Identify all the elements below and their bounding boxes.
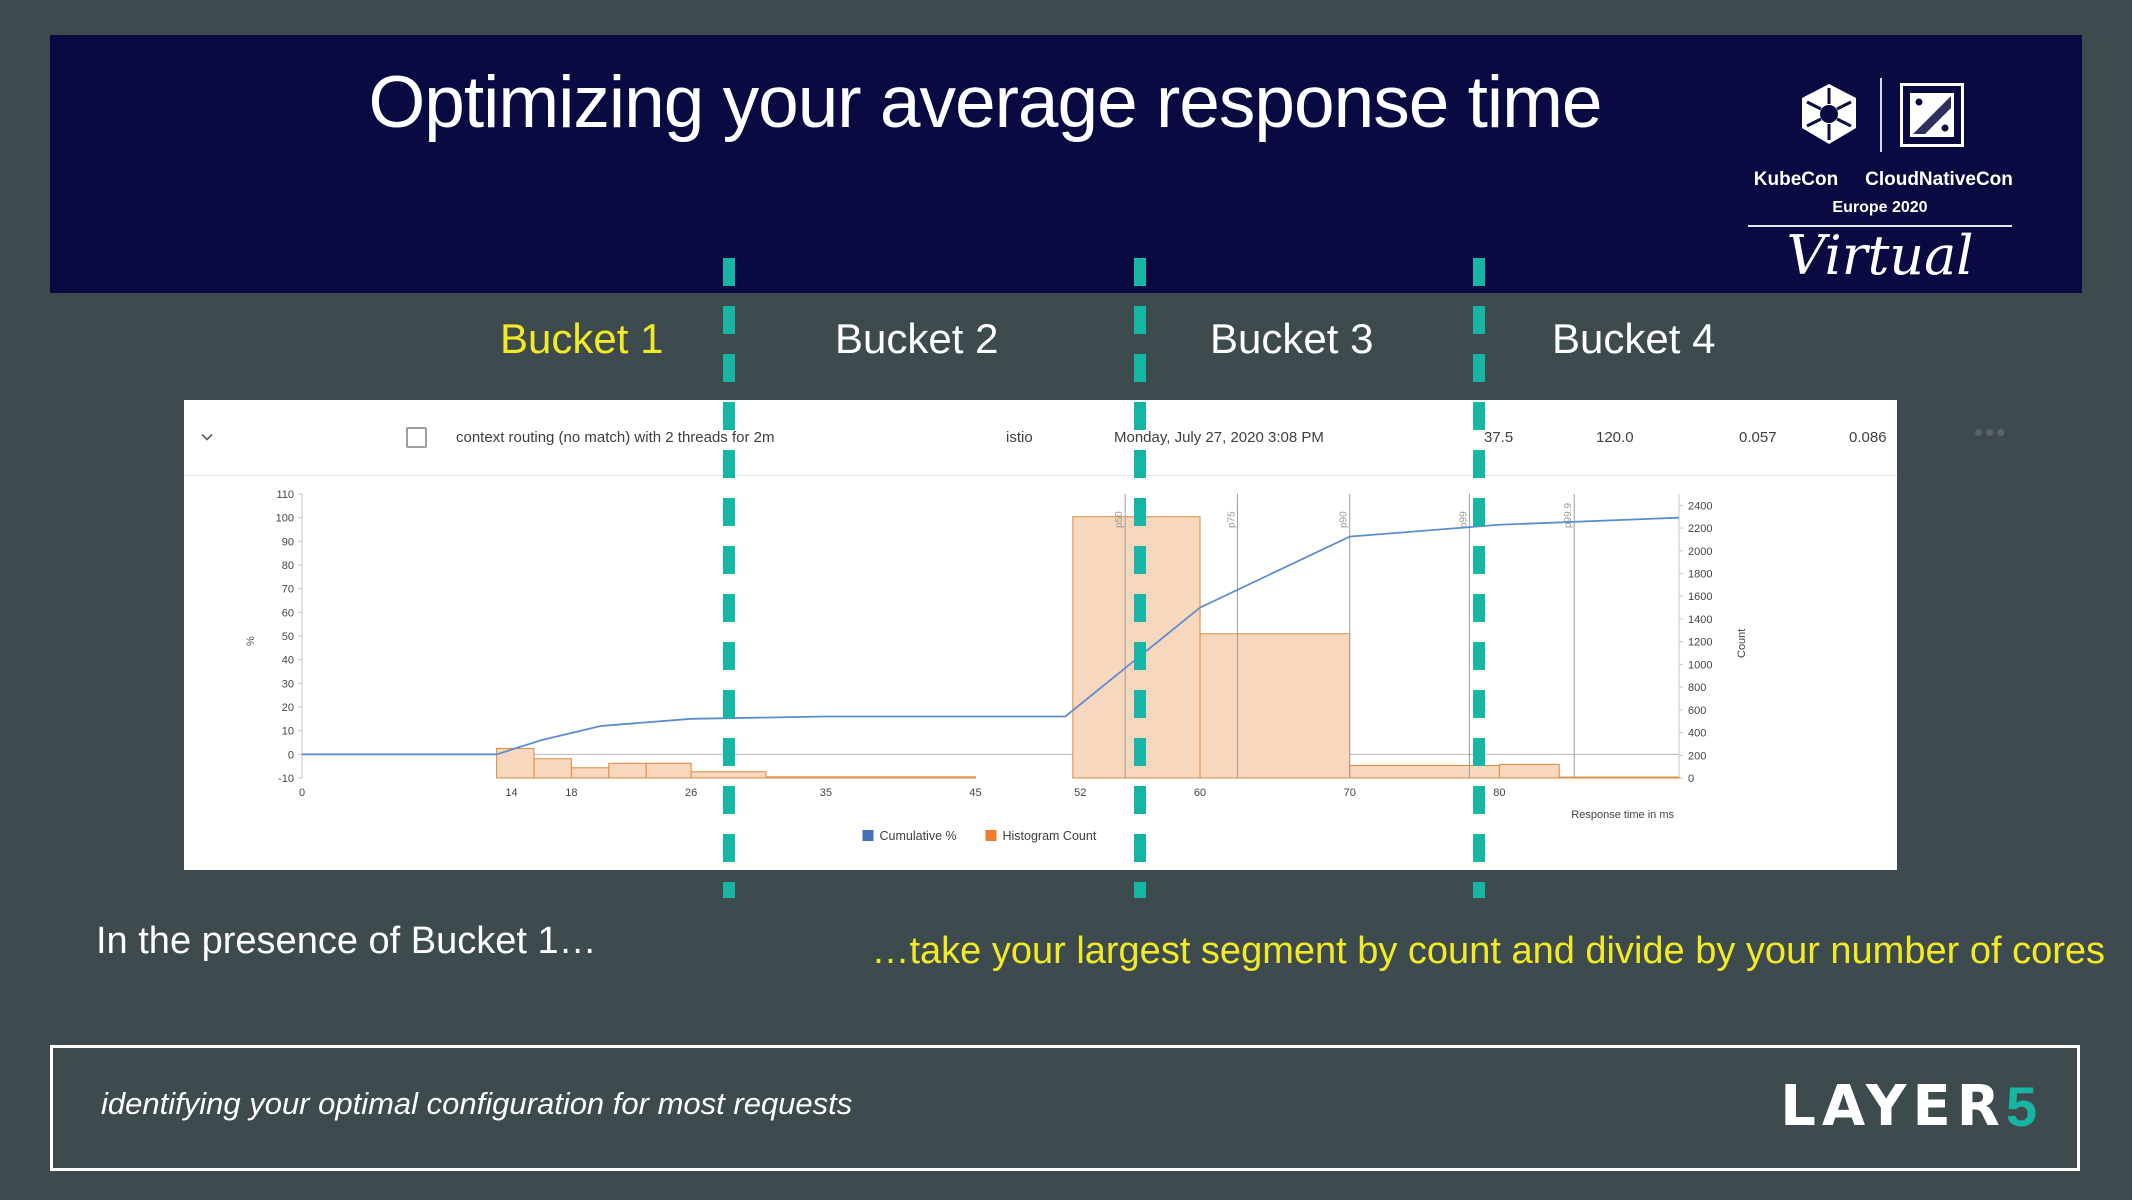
svg-text:18: 18 <box>565 787 577 799</box>
svg-text:Histogram Count: Histogram Count <box>1003 829 1097 843</box>
svg-text:400: 400 <box>1688 728 1706 740</box>
chart-canvas: 1101009080706050403020100-10240022002000… <box>184 476 1897 870</box>
bucket-label-2: Bucket 2 <box>835 315 998 363</box>
svg-text:1400: 1400 <box>1688 614 1712 626</box>
svg-text:35: 35 <box>820 787 832 799</box>
logo-name-cloudnativecon: CloudNativeCon <box>1855 169 2023 191</box>
svg-text:90: 90 <box>282 536 294 548</box>
histogram-chart: 1101009080706050403020100-10240022002000… <box>184 476 1897 870</box>
svg-text:80: 80 <box>282 560 294 572</box>
svg-text:60: 60 <box>282 607 294 619</box>
metric-col-2: 120.0 <box>1596 429 1634 446</box>
row-checkbox[interactable] <box>406 427 427 448</box>
svg-text:14: 14 <box>505 787 517 799</box>
svg-text:1200: 1200 <box>1688 637 1712 649</box>
svg-text:Response time in ms: Response time in ms <box>1571 809 1674 821</box>
bucket-divider-2 <box>1134 258 1146 898</box>
svg-text:100: 100 <box>276 513 294 525</box>
svg-text:30: 30 <box>282 678 294 690</box>
bucket-label-4: Bucket 4 <box>1552 315 1715 363</box>
svg-text:%: % <box>245 636 257 646</box>
layer5-logo: LAYER 5 <box>1780 1076 2037 1136</box>
svg-text:1800: 1800 <box>1688 569 1712 581</box>
fortio-result-panel: context routing (no match) with 2 thread… <box>184 400 1897 870</box>
svg-text:p75: p75 <box>1226 511 1237 528</box>
logo-name-kubecon: KubeCon <box>1737 169 1855 191</box>
helm-wheel-icon <box>1796 82 1862 148</box>
svg-text:2000: 2000 <box>1688 546 1712 558</box>
svg-text:20: 20 <box>282 702 294 714</box>
metric-col-4: 0.086 <box>1849 429 1887 446</box>
caption-left: In the presence of Bucket 1… <box>96 920 597 963</box>
caption-right: …take your largest segment by count and … <box>805 920 2105 982</box>
svg-text:26: 26 <box>685 787 697 799</box>
svg-text:-10: -10 <box>278 773 294 785</box>
title-bar: Optimizing your average response time <box>50 35 2082 293</box>
svg-text:1000: 1000 <box>1688 659 1712 671</box>
svg-text:110: 110 <box>276 489 294 501</box>
svg-text:Cumulative %: Cumulative % <box>880 829 957 843</box>
svg-text:10: 10 <box>282 726 294 738</box>
svg-text:Count: Count <box>1736 629 1748 658</box>
svg-text:70: 70 <box>1344 787 1356 799</box>
svg-text:600: 600 <box>1688 705 1706 717</box>
brand-name: LAYER <box>1780 1074 2006 1139</box>
svg-text:0: 0 <box>1688 773 1694 785</box>
svg-text:1600: 1600 <box>1688 591 1712 603</box>
svg-text:p90: p90 <box>1339 511 1350 528</box>
svg-text:80: 80 <box>1493 787 1505 799</box>
service-mesh: istio <box>1006 429 1033 446</box>
cloud-native-square-icon <box>1900 83 1964 147</box>
svg-text:0: 0 <box>299 787 305 799</box>
svg-text:p99.9: p99.9 <box>1563 503 1574 528</box>
svg-text:45: 45 <box>969 787 981 799</box>
svg-text:800: 800 <box>1688 682 1706 694</box>
logo-edition: Europe 2020 <box>1730 199 2030 217</box>
logo-divider <box>1880 78 1882 152</box>
svg-text:2400: 2400 <box>1688 500 1712 512</box>
metric-col-1: 37.5 <box>1484 429 1513 446</box>
footer-bar: identifying your optimal configuration f… <box>50 1045 2080 1171</box>
bucket-label-3: Bucket 3 <box>1210 315 1373 363</box>
metric-col-3: 0.057 <box>1739 429 1777 446</box>
result-row[interactable]: context routing (no match) with 2 thread… <box>184 400 1897 476</box>
bucket-divider-3 <box>1473 258 1485 898</box>
chevron-down-icon[interactable] <box>198 428 216 446</box>
svg-text:p99: p99 <box>1458 511 1469 528</box>
brand-suffix: 5 <box>2006 1074 2037 1139</box>
svg-text:p50: p50 <box>1114 511 1125 528</box>
svg-text:40: 40 <box>282 655 294 667</box>
svg-text:60: 60 <box>1194 787 1206 799</box>
svg-text:52: 52 <box>1074 787 1086 799</box>
bucket-divider-1 <box>723 258 735 898</box>
footer-caption: identifying your optimal configuration f… <box>101 1086 852 1122</box>
svg-text:2200: 2200 <box>1688 523 1712 535</box>
logo-mode: Virtual <box>1730 225 2030 287</box>
conference-logo: KubeCon CloudNativeCon Europe 2020 Virtu… <box>1730 57 2030 273</box>
bucket-label-1: Bucket 1 <box>500 315 663 363</box>
svg-text:0: 0 <box>288 749 294 761</box>
more-options-icon[interactable]: ••• <box>1974 422 2007 442</box>
svg-text:70: 70 <box>282 584 294 596</box>
svg-text:200: 200 <box>1688 750 1706 762</box>
page-title: Optimizing your average response time <box>230 57 1740 149</box>
svg-text:50: 50 <box>282 631 294 643</box>
